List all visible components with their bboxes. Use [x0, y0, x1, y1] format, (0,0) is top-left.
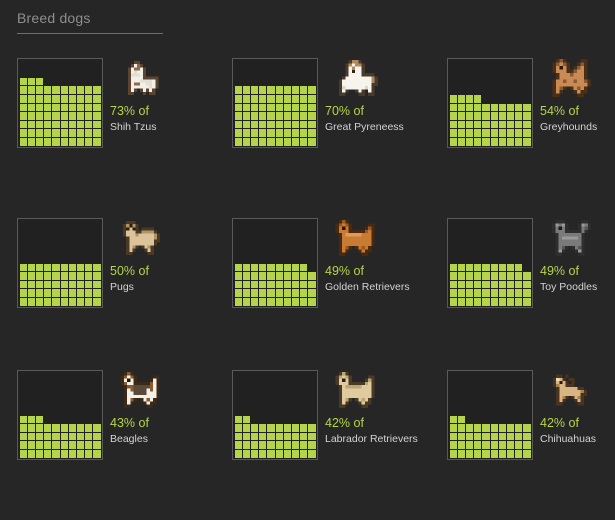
waffle-cell [491, 433, 498, 441]
waffle-cell [491, 424, 498, 432]
waffle-cell [28, 298, 35, 306]
waffle-cell [292, 104, 299, 112]
panel-labels: 73% ofShih Tzus [110, 104, 215, 134]
waffle-cell [466, 272, 473, 280]
waffle-cell [482, 407, 489, 415]
waffle-cell [69, 272, 76, 280]
waffle-cell [507, 121, 514, 129]
waffle-cell [523, 255, 530, 263]
waffle-cell [44, 398, 51, 406]
waffle-cell [515, 138, 522, 146]
waffle-cell [284, 398, 291, 406]
waffle-cell [61, 416, 68, 424]
waffle-cell [85, 398, 92, 406]
waffle-cell [52, 246, 59, 254]
waffle-cell [276, 104, 283, 112]
waffle-cell [507, 433, 514, 441]
waffle-cell [28, 112, 35, 120]
waffle-cell [499, 129, 506, 137]
waffle-cell [308, 138, 315, 146]
waffle-cell [292, 129, 299, 137]
waffle-cell [251, 373, 258, 381]
waffle-cell [515, 95, 522, 103]
waffle-cell [85, 416, 92, 424]
waffle-cell [466, 398, 473, 406]
waffle-chart [447, 370, 533, 460]
waffle-cell [499, 450, 506, 458]
waffle-cell [36, 69, 43, 77]
waffle-cell [491, 272, 498, 280]
waffle-cell [499, 69, 506, 77]
waffle-cell [235, 78, 242, 86]
waffle-cell [93, 138, 100, 146]
waffle-cell [482, 450, 489, 458]
waffle-cell [251, 298, 258, 306]
waffle-cell [93, 255, 100, 263]
waffle-cell [491, 441, 498, 449]
waffle-cell [284, 407, 291, 415]
waffle-cell [36, 424, 43, 432]
waffle-cell [259, 416, 266, 424]
waffle-cell [44, 112, 51, 120]
waffle-cell [507, 416, 514, 424]
waffle-row [234, 94, 316, 103]
waffle-cell [36, 398, 43, 406]
waffle-cell [300, 398, 307, 406]
breed-label: Great Pyreneess [325, 120, 430, 134]
waffle-cell [259, 255, 266, 263]
waffle-cell [235, 221, 242, 229]
waffle-cell [466, 78, 473, 86]
waffle-cell [284, 264, 291, 272]
waffle-cell [251, 381, 258, 389]
waffle-row [234, 60, 316, 69]
waffle-cell [36, 289, 43, 297]
waffle-cell [450, 86, 457, 94]
waffle-cell [20, 112, 27, 120]
waffle-cell [267, 424, 274, 432]
waffle-cell [450, 441, 457, 449]
waffle-cell [482, 61, 489, 69]
waffle-cell [267, 61, 274, 69]
waffle-cell [52, 221, 59, 229]
waffle-cell [52, 272, 59, 280]
waffle-cell [85, 78, 92, 86]
waffle-cell [458, 398, 465, 406]
waffle-cell [85, 238, 92, 246]
waffle-row [449, 289, 531, 298]
waffle-cell [292, 433, 299, 441]
waffle-cell [259, 221, 266, 229]
waffle-cell [52, 416, 59, 424]
waffle-cell [276, 86, 283, 94]
waffle-cell [36, 416, 43, 424]
waffle-cell [466, 255, 473, 263]
waffle-cell [235, 281, 242, 289]
waffle-cell [474, 255, 481, 263]
waffle-cell [44, 78, 51, 86]
waffle-cell [93, 86, 100, 94]
waffle-cell [491, 450, 498, 458]
waffle-cell [458, 255, 465, 263]
waffle-cell [85, 390, 92, 398]
waffle-cell [77, 390, 84, 398]
waffle-cell [474, 95, 481, 103]
waffle-cell [243, 441, 250, 449]
waffle-row [449, 389, 531, 398]
waffle-cell [267, 398, 274, 406]
waffle-cell [491, 129, 498, 137]
waffle-cell [36, 138, 43, 146]
waffle-cell [507, 407, 514, 415]
waffle-cell [507, 86, 514, 94]
waffle-cell [61, 390, 68, 398]
waffle-cell [523, 407, 530, 415]
waffle-cell [284, 86, 291, 94]
waffle-cell [93, 281, 100, 289]
waffle-cell [523, 433, 530, 441]
waffle-cell [450, 289, 457, 297]
page-title: Breed dogs [17, 10, 91, 26]
waffle-row [449, 432, 531, 441]
waffle-cell [284, 416, 291, 424]
waffle-cell [507, 390, 514, 398]
waffle-cell [482, 121, 489, 129]
waffle-row [234, 237, 316, 246]
waffle-cell [85, 95, 92, 103]
waffle-cell [251, 281, 258, 289]
waffle-cell [61, 255, 68, 263]
waffle-cell [61, 450, 68, 458]
waffle-cell [93, 69, 100, 77]
waffle-cell [308, 373, 315, 381]
waffle-cell [251, 416, 258, 424]
waffle-cell [36, 390, 43, 398]
waffle-cell [276, 229, 283, 237]
waffle-cell [77, 264, 84, 272]
waffle-cell [44, 104, 51, 112]
waffle-cell [93, 221, 100, 229]
waffle-cell [69, 289, 76, 297]
waffle-cell [276, 246, 283, 254]
waffle-cell [284, 69, 291, 77]
waffle-cell [28, 95, 35, 103]
waffle-cell [77, 95, 84, 103]
waffle-cell [499, 121, 506, 129]
waffle-row [449, 77, 531, 86]
waffle-cell [466, 381, 473, 389]
percent-label: 49% of [540, 264, 615, 279]
waffle-cell [499, 398, 506, 406]
waffle-cell [28, 246, 35, 254]
waffle-cell [52, 255, 59, 263]
waffle-cell [28, 450, 35, 458]
waffle-cell [61, 281, 68, 289]
waffle-cell [44, 129, 51, 137]
waffle-cell [251, 264, 258, 272]
waffle-cell [235, 441, 242, 449]
waffle-cell [292, 298, 299, 306]
waffle-cell [474, 129, 481, 137]
waffle-row [449, 120, 531, 129]
waffle-cell [499, 78, 506, 86]
waffle-cell [52, 289, 59, 297]
waffle-cell [85, 104, 92, 112]
waffle-row [449, 381, 531, 390]
waffle-cell [235, 229, 242, 237]
breed-label: Greyhounds [540, 120, 615, 134]
waffle-cell [69, 229, 76, 237]
waffle-cell [284, 238, 291, 246]
waffle-cell [523, 289, 530, 297]
waffle-cell [507, 238, 514, 246]
waffle-cell [284, 61, 291, 69]
waffle-cell [523, 264, 530, 272]
waffle-cell [235, 246, 242, 254]
waffle-cell [284, 441, 291, 449]
waffle-cell [44, 246, 51, 254]
waffle-cell [52, 281, 59, 289]
waffle-cell [28, 238, 35, 246]
waffle-cell [20, 138, 27, 146]
breed-label: Beagles [110, 432, 215, 446]
waffle-row [234, 406, 316, 415]
waffle-cell [292, 112, 299, 120]
waffle-cell [515, 298, 522, 306]
waffle-cell [300, 416, 307, 424]
waffle-cell [474, 121, 481, 129]
waffle-cell [69, 129, 76, 137]
waffle-row [449, 94, 531, 103]
waffle-cell [507, 104, 514, 112]
waffle-cell [20, 298, 27, 306]
waffle-cell [93, 238, 100, 246]
waffle-cell [466, 104, 473, 112]
waffle-cell [450, 281, 457, 289]
waffle-cell [458, 441, 465, 449]
waffle-cell [308, 441, 315, 449]
waffle-cell [523, 229, 530, 237]
waffle-cell [235, 61, 242, 69]
waffle-chart [232, 370, 318, 460]
waffle-cell [20, 264, 27, 272]
waffle-cell [507, 289, 514, 297]
waffle-cell [482, 95, 489, 103]
waffle-cell [276, 289, 283, 297]
waffle-cell [491, 264, 498, 272]
waffle-row [234, 137, 316, 146]
waffle-cell [61, 381, 68, 389]
waffle-cell [69, 433, 76, 441]
waffle-cell [28, 78, 35, 86]
waffle-cell [308, 424, 315, 432]
percent-label: 42% of [325, 416, 430, 431]
waffle-cell [515, 373, 522, 381]
waffle-cell [259, 69, 266, 77]
waffle-row [234, 112, 316, 121]
waffle-cell [243, 398, 250, 406]
waffle-row [234, 120, 316, 129]
waffle-cell [235, 433, 242, 441]
waffle-row [449, 112, 531, 121]
waffle-cell [93, 112, 100, 120]
waffle-cell [450, 121, 457, 129]
waffle-cell [251, 104, 258, 112]
waffle-row [19, 86, 101, 95]
waffle-cell [251, 61, 258, 69]
waffle-cell [61, 112, 68, 120]
waffle-cell [36, 61, 43, 69]
waffle-cell [458, 112, 465, 120]
waffle-cell [507, 398, 514, 406]
waffle-cell [276, 373, 283, 381]
waffle-cell [466, 281, 473, 289]
waffle-cell [284, 246, 291, 254]
waffle-chart [17, 218, 103, 308]
waffle-row [449, 372, 531, 381]
waffle-cell [474, 264, 481, 272]
waffle-cell [523, 104, 530, 112]
waffle-cell [251, 450, 258, 458]
waffle-cell [44, 229, 51, 237]
waffle-cell [93, 229, 100, 237]
waffle-cell [499, 95, 506, 103]
waffle-row [234, 389, 316, 398]
waffle-cell [482, 390, 489, 398]
waffle-cell [491, 390, 498, 398]
waffle-cell [308, 281, 315, 289]
waffle-cell [491, 95, 498, 103]
waffle-cell [450, 255, 457, 263]
waffle-cell [276, 381, 283, 389]
waffle-cell [44, 95, 51, 103]
waffle-cell [44, 121, 51, 129]
waffle-cell [69, 86, 76, 94]
waffle-cell [292, 398, 299, 406]
waffle-cell [458, 416, 465, 424]
waffle-cell [458, 129, 465, 137]
waffle-cell [482, 433, 489, 441]
waffle-cell [44, 424, 51, 432]
waffle-cell [292, 381, 299, 389]
waffle-cell [491, 289, 498, 297]
waffle-cell [450, 104, 457, 112]
waffle-cell [36, 112, 43, 120]
waffle-cell [267, 264, 274, 272]
waffle-cell [276, 390, 283, 398]
waffle-cell [20, 407, 27, 415]
waffle-chart [17, 370, 103, 460]
waffle-cell [267, 416, 274, 424]
waffle-cell [259, 373, 266, 381]
waffle-panel: 54% ofGreyhounds [440, 48, 615, 208]
waffle-cell [308, 264, 315, 272]
waffle-panel: 42% ofChihuahuas [440, 360, 615, 520]
waffle-row [449, 415, 531, 424]
waffle-cell [61, 246, 68, 254]
waffle-cell [93, 78, 100, 86]
waffle-cell [267, 138, 274, 146]
waffle-cell [77, 246, 84, 254]
waffle-cell [259, 229, 266, 237]
waffle-cell [466, 373, 473, 381]
waffle-cell [515, 221, 522, 229]
waffle-cell [28, 229, 35, 237]
waffle-cell [267, 229, 274, 237]
waffle-cell [300, 281, 307, 289]
waffle-cell [523, 424, 530, 432]
waffle-cell [458, 229, 465, 237]
waffle-cell [482, 298, 489, 306]
waffle-cell [523, 281, 530, 289]
waffle-cell [77, 289, 84, 297]
waffle-row [19, 254, 101, 263]
waffle-row [234, 229, 316, 238]
percent-label: 50% of [110, 264, 215, 279]
waffle-cell [466, 95, 473, 103]
waffle-cell [85, 272, 92, 280]
waffle-cell [523, 298, 530, 306]
waffle-cell [458, 373, 465, 381]
waffle-cell [499, 373, 506, 381]
waffle-cell [52, 450, 59, 458]
waffle-cell [243, 229, 250, 237]
waffle-row [19, 129, 101, 138]
waffle-cell [300, 221, 307, 229]
waffle-cell [267, 86, 274, 94]
waffle-cell [77, 138, 84, 146]
waffle-cell [85, 289, 92, 297]
waffle-cell [450, 416, 457, 424]
waffle-cell [61, 121, 68, 129]
waffle-row [19, 398, 101, 407]
waffle-cell [20, 424, 27, 432]
waffle-cell [85, 407, 92, 415]
waffle-cell [44, 255, 51, 263]
waffle-row [234, 103, 316, 112]
waffle-cell [52, 112, 59, 120]
waffle-row [449, 441, 531, 450]
waffle-cell [251, 221, 258, 229]
waffle-cell [235, 381, 242, 389]
waffle-cell [36, 373, 43, 381]
waffle-cell [276, 78, 283, 86]
waffle-cell [85, 121, 92, 129]
waffle-cell [300, 390, 307, 398]
waffle-cell [243, 381, 250, 389]
waffle-cell [507, 95, 514, 103]
waffle-row [234, 272, 316, 281]
waffle-cell [284, 272, 291, 280]
waffle-cell [507, 255, 514, 263]
waffle-cell [36, 238, 43, 246]
waffle-cell [474, 138, 481, 146]
waffle-cell [243, 61, 250, 69]
waffle-cell [251, 398, 258, 406]
waffle-cell [292, 238, 299, 246]
waffle-cell [507, 129, 514, 137]
waffle-cell [499, 61, 506, 69]
waffle-cell [20, 450, 27, 458]
waffle-cell [466, 229, 473, 237]
waffle-cell [515, 433, 522, 441]
waffle-panel: 49% ofGolden Retrievers [225, 208, 430, 368]
waffle-cell [93, 61, 100, 69]
waffle-row [19, 137, 101, 146]
waffle-cell [308, 78, 315, 86]
waffle-cell [276, 112, 283, 120]
waffle-cell [243, 298, 250, 306]
